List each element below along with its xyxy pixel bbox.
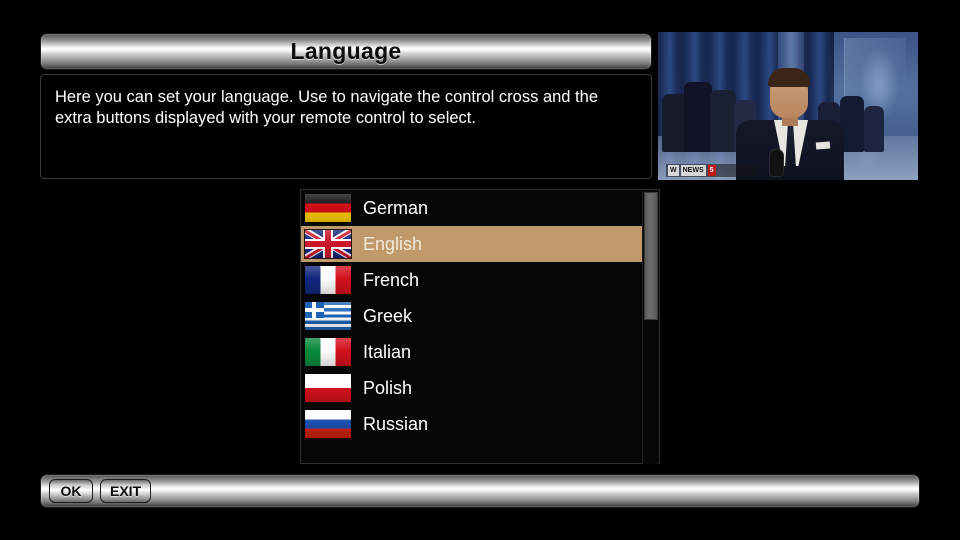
video-crowd-person: [662, 94, 686, 152]
channel-logo-part: W: [668, 165, 679, 176]
help-text: Here you can set your language. Use to n…: [55, 87, 637, 129]
flag-russia-icon: [305, 410, 351, 438]
list-item-french[interactable]: French: [301, 262, 645, 298]
flag-united-kingdom-icon: [305, 230, 351, 258]
microphone-icon: [770, 150, 783, 176]
list-item-label: Russian: [363, 415, 428, 433]
language-list: German English French Greek: [301, 190, 645, 442]
page-title-bar: Language: [40, 33, 652, 70]
list-item-polish[interactable]: Polish: [301, 370, 645, 406]
flag-poland-icon: [305, 374, 351, 402]
channel-logo-part: 5: [708, 165, 716, 176]
video-crowd-person: [684, 82, 712, 152]
language-list-panel: German English French Greek: [300, 189, 660, 464]
list-item-label: Greek: [363, 307, 412, 325]
list-item-greek[interactable]: Greek: [301, 298, 645, 334]
flag-france-icon: [305, 266, 351, 294]
tv-settings-screen: Language Here you can set your language.…: [0, 0, 960, 540]
footer-button-bar: OK EXIT: [40, 474, 920, 508]
video-crowd-person: [710, 90, 736, 152]
flag-italy-icon: [305, 338, 351, 366]
help-text-box: Here you can set your language. Use to n…: [40, 74, 652, 179]
list-item-russian[interactable]: Russian: [301, 406, 645, 442]
flag-germany-icon: [305, 194, 351, 222]
list-item-label: German: [363, 199, 428, 217]
list-item-italian[interactable]: Italian: [301, 334, 645, 370]
page-title: Language: [290, 40, 401, 63]
list-item-german[interactable]: German: [301, 190, 645, 226]
video-preview[interactable]: W NEWS 5: [658, 32, 918, 180]
video-reporter-pocket-square: [816, 142, 830, 150]
list-item-label: French: [363, 271, 419, 289]
ok-button[interactable]: OK: [49, 479, 93, 503]
list-item-label: Italian: [363, 343, 411, 361]
list-item-label: English: [363, 235, 422, 253]
exit-button[interactable]: EXIT: [100, 479, 151, 503]
scrollbar-track[interactable]: [642, 191, 658, 464]
list-item-label: Polish: [363, 379, 412, 397]
video-reporter-hair: [768, 68, 810, 87]
list-item-english[interactable]: English: [301, 226, 645, 262]
scrollbar-thumb[interactable]: [644, 192, 658, 320]
channel-logo-part: NEWS: [681, 165, 706, 176]
channel-logo: W NEWS 5: [666, 164, 756, 177]
flag-greece-icon: [305, 302, 351, 330]
video-crowd-person: [864, 106, 884, 152]
